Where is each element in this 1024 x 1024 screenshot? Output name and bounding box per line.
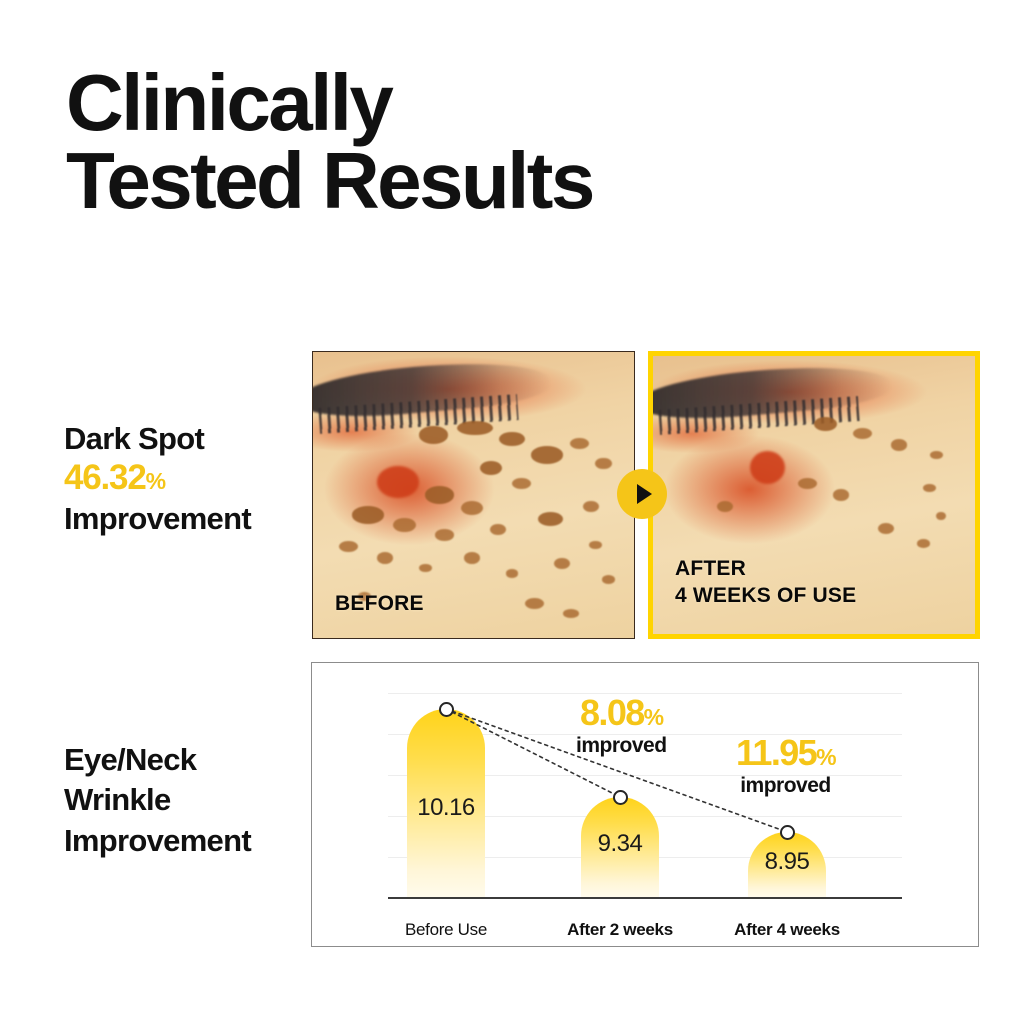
improvement-percent: 8.08% <box>576 695 667 731</box>
improvement-percent-value: 8.08 <box>580 692 644 733</box>
improvement-word: improved <box>576 734 667 758</box>
chart-data-point-marker <box>780 825 795 840</box>
eye-neck-line-1: Eye/Neck <box>64 740 314 780</box>
dark-spot-percent: 46.32% <box>64 457 312 500</box>
eye-neck-line-3: Improvement <box>64 821 314 861</box>
chart-data-point-marker <box>613 790 628 805</box>
chart-data-point-marker <box>439 702 454 717</box>
dark-spot-subtitle: Improvement <box>64 500 312 537</box>
improvement-annotation: 11.95% improved <box>736 735 835 798</box>
improvement-percent: 11.95% <box>736 735 835 771</box>
play-triangle-glyph <box>637 484 652 504</box>
play-triangle-icon <box>617 469 667 519</box>
wrinkle-improvement-chart: 10.16 9.34 8.95 8.08% improved 11.95% im… <box>311 662 979 947</box>
improvement-word: improved <box>736 774 835 798</box>
eye-neck-result-label: Eye/Neck Wrinkle Improvement <box>64 740 314 861</box>
dark-spot-result-label: Dark Spot 46.32% Improvement <box>64 420 312 537</box>
improvement-percent-symbol: % <box>644 704 663 730</box>
page-title-line-1: Clinically <box>66 64 766 142</box>
before-photo: BEFORE <box>312 351 635 639</box>
dark-spot-percent-symbol: % <box>146 468 165 494</box>
after-photo-caption-line-2: 4 WEEKS OF USE <box>675 583 856 610</box>
eye-neck-line-2: Wrinkle <box>64 780 314 820</box>
chart-plot-area: 10.16 9.34 8.95 8.08% improved 11.95% im… <box>388 663 902 948</box>
before-photo-caption: BEFORE <box>335 591 424 618</box>
page-title-line-2: Tested Results <box>66 142 766 220</box>
dark-spot-title: Dark Spot <box>64 420 312 457</box>
after-photo-caption: AFTER 4 WEEKS OF USE <box>675 556 856 610</box>
after-photo: AFTER 4 WEEKS OF USE <box>648 351 980 639</box>
after-photo-caption-line-1: AFTER <box>675 556 856 583</box>
improvement-percent-symbol: % <box>816 744 835 770</box>
improvement-percent-value: 11.95 <box>736 732 816 773</box>
dark-spot-percent-value: 46.32 <box>64 458 146 497</box>
improvement-annotation: 8.08% improved <box>576 695 667 758</box>
page-title: Clinically Tested Results <box>66 64 766 219</box>
